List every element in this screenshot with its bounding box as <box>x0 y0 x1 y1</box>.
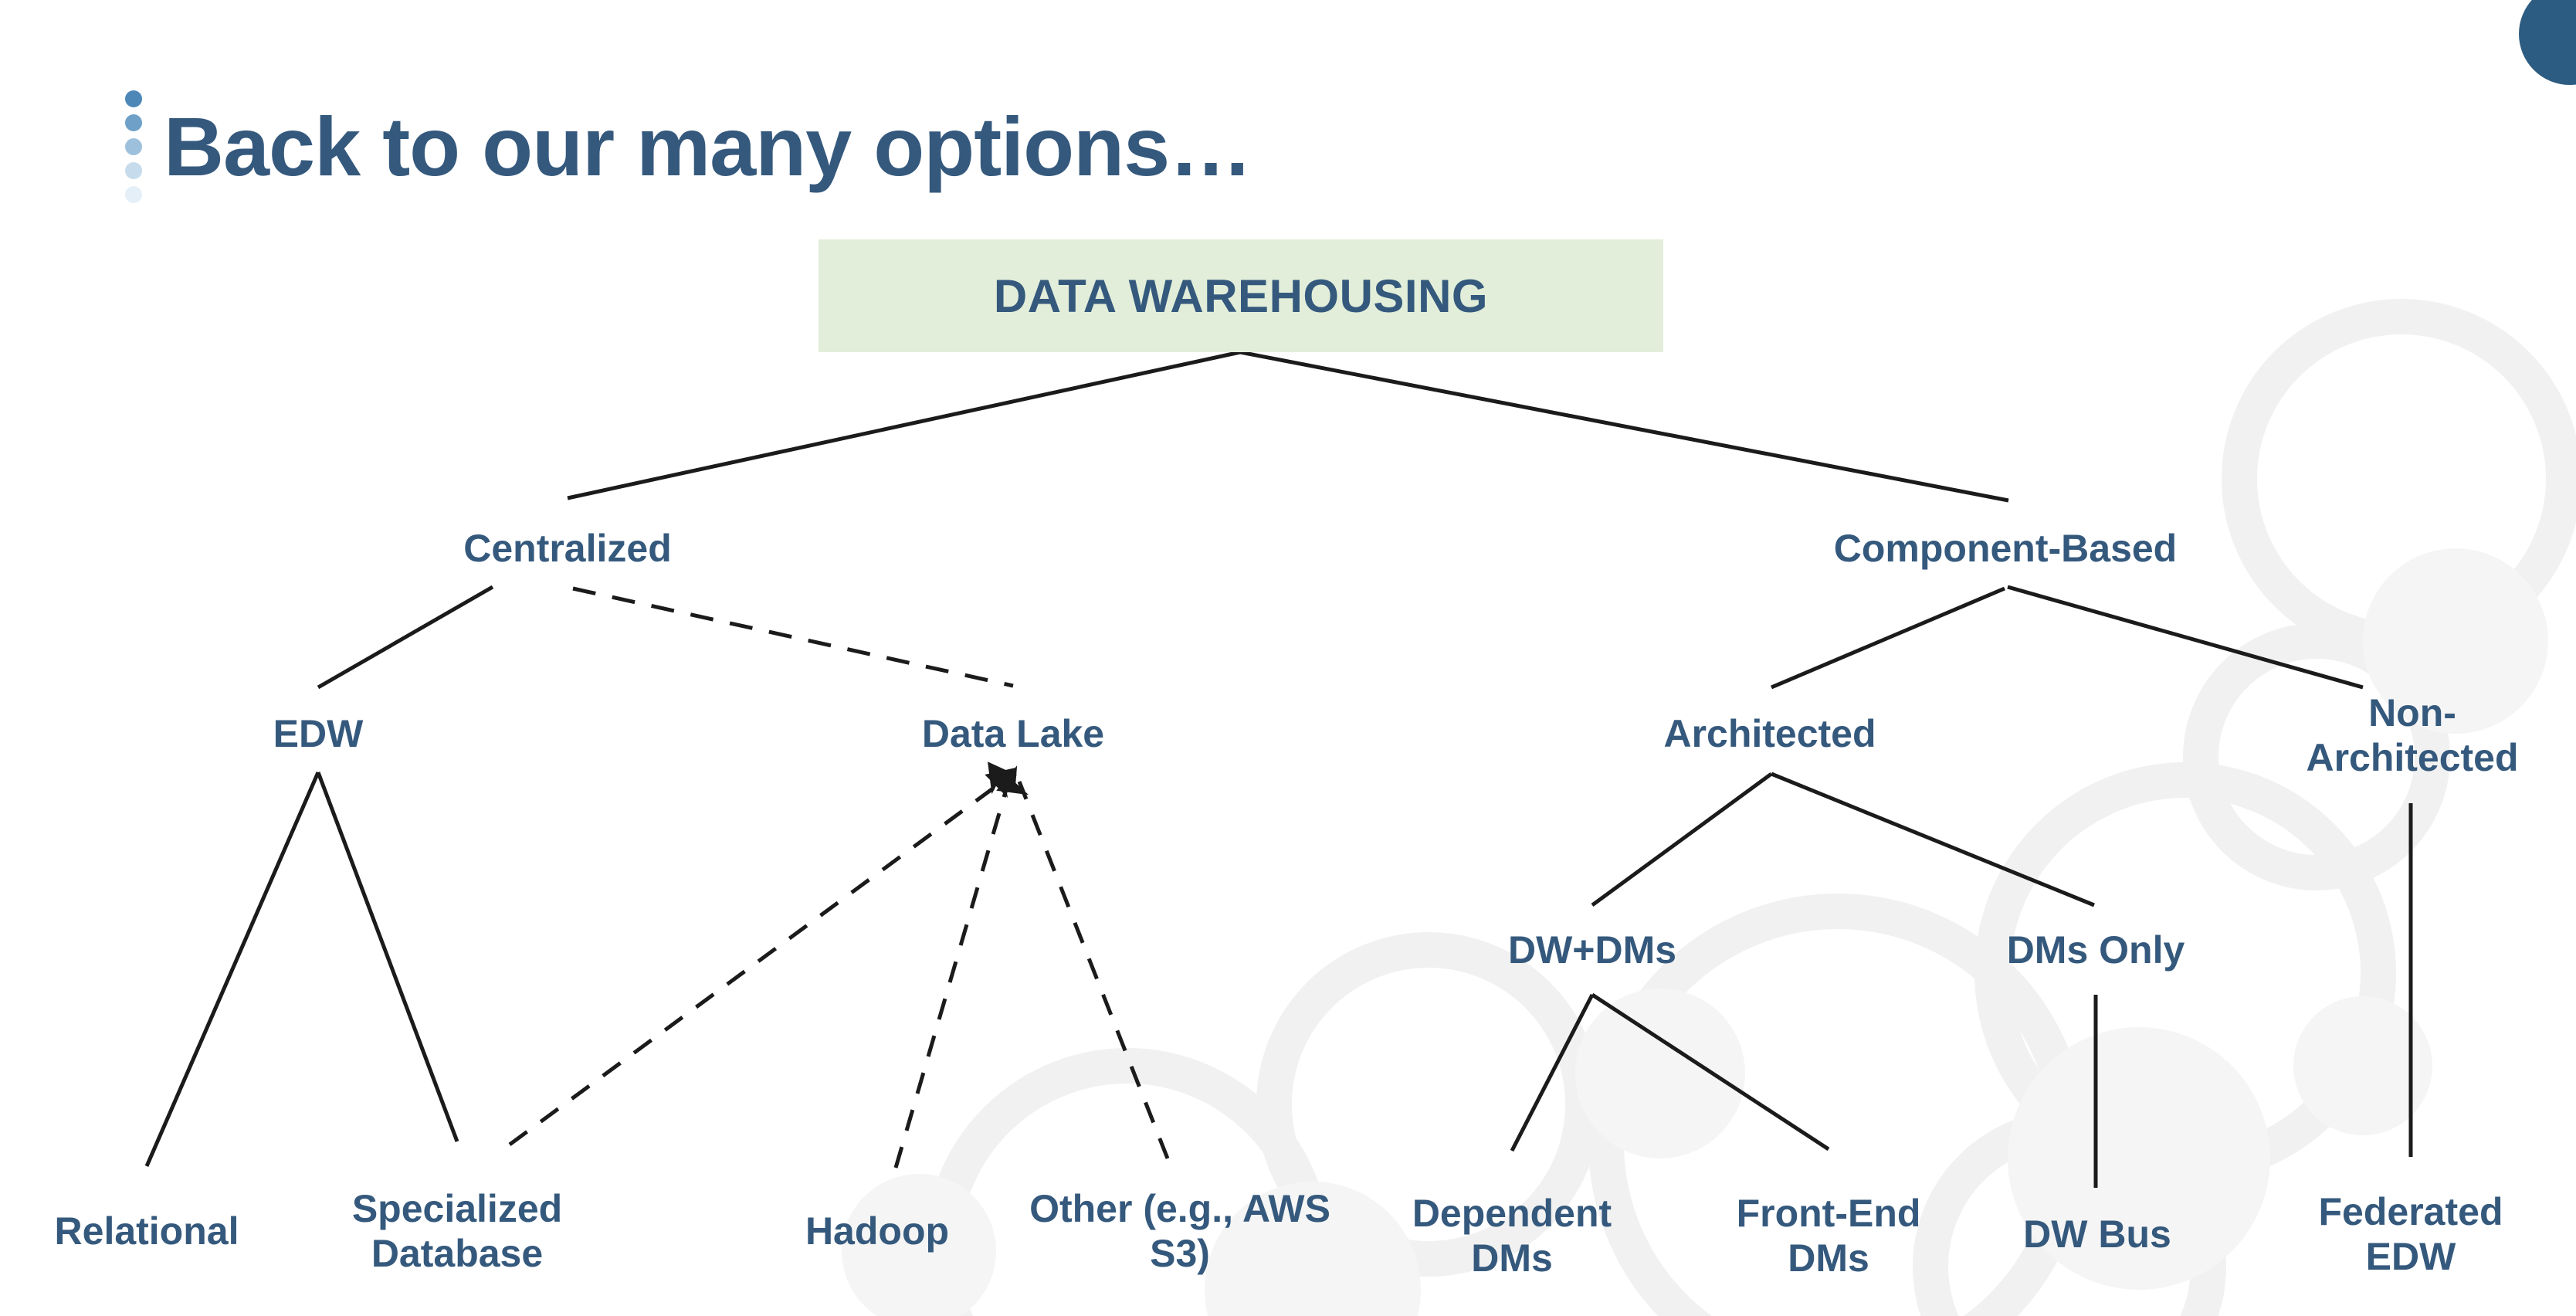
node-dw-plus-dms[interactable]: DW+DMs <box>1508 928 1676 972</box>
node-data-lake[interactable]: Data Lake <box>922 711 1104 756</box>
node-data-warehousing[interactable]: DATA WAREHOUSING <box>819 239 1663 352</box>
edge-component-architected <box>1771 588 2005 687</box>
node-other-aws-s3[interactable]: Other (e.g., AWS S3) <box>1029 1186 1330 1276</box>
node-hadoop[interactable]: Hadoop <box>805 1209 949 1253</box>
edge-dw-dms-front-end-dms <box>1592 995 1829 1149</box>
edge-architected-dms-only <box>1771 774 2094 905</box>
tree-edges <box>0 0 2576 1316</box>
node-dms-only[interactable]: DMs Only <box>2007 928 2185 972</box>
node-dependent-dms[interactable]: Dependent DMs <box>1412 1191 1612 1280</box>
node-centralized[interactable]: Centralized <box>463 526 672 571</box>
edge-specialized-db-data-lake <box>510 782 1002 1145</box>
node-front-end-dms[interactable]: Front-End DMs <box>1737 1191 1921 1280</box>
edge-edw-relational <box>147 772 318 1166</box>
edge-other-aws-s3-data-lake <box>1019 782 1168 1158</box>
edge-component-non-architected <box>2008 587 2363 687</box>
node-component-based[interactable]: Component-Based <box>1834 526 2177 571</box>
edge-edw-specialized-db <box>318 772 457 1141</box>
edge-root-centralized <box>568 352 1240 498</box>
node-specialized-database[interactable]: Specialized Database <box>352 1186 562 1276</box>
node-relational[interactable]: Relational <box>55 1209 239 1253</box>
edge-root-component-based <box>1240 352 2008 500</box>
edge-hadoop-data-lake <box>896 782 1008 1168</box>
node-architected[interactable]: Architected <box>1663 711 1876 756</box>
node-federated-edw[interactable]: Federated EDW <box>2319 1189 2503 1279</box>
node-edw[interactable]: EDW <box>273 711 364 756</box>
data-warehousing-tree-diagram: DATA WAREHOUSING Centralized Component-B… <box>0 0 2576 1316</box>
edge-dw-dms-dependent-dms <box>1512 995 1592 1151</box>
node-dw-bus[interactable]: DW Bus <box>2023 1212 2171 1257</box>
edge-centralized-data-lake <box>573 588 1013 686</box>
edge-architected-dw-dms <box>1592 774 1771 905</box>
node-non-architected[interactable]: Non- Architected <box>2306 690 2518 780</box>
slide-canvas: Back to our many options… <box>0 0 2576 1316</box>
edge-centralized-edw <box>318 587 493 687</box>
